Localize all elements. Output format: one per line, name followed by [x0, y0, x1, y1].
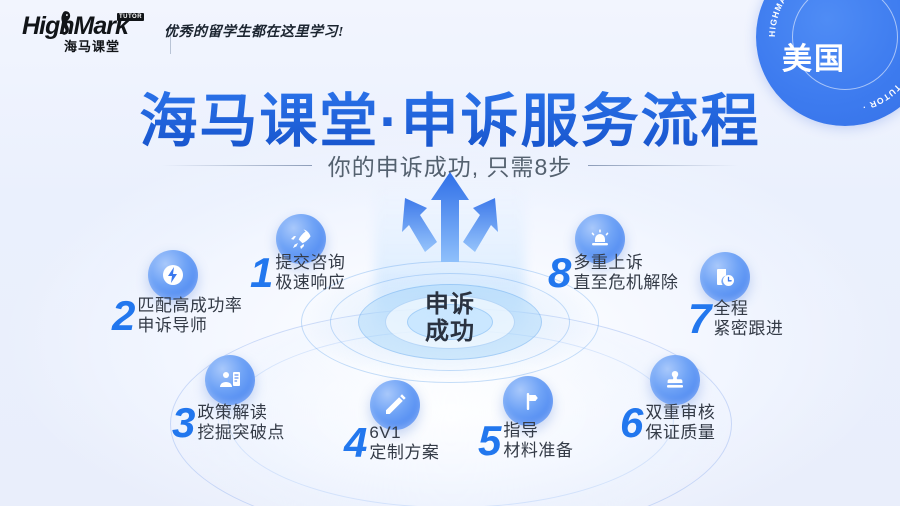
- step-8-lines: 多重上诉 直至危机解除: [573, 253, 678, 293]
- subtitle-rule-right: [588, 165, 738, 166]
- step-6-line1: 双重审核: [645, 403, 715, 423]
- signpost-icon[interactable]: [503, 376, 553, 426]
- poster-root: HighMark TUTOR 海马课堂 优秀的留学生都在这里学习! HIGHMA…: [0, 0, 900, 506]
- step-4-lines: 6V1 定制方案: [369, 423, 439, 463]
- step-6-lines: 双重审核 保证质量: [645, 403, 715, 443]
- step-3-line2: 挖掘突破点: [197, 423, 285, 443]
- step-6-line2: 保证质量: [645, 423, 715, 443]
- step-7-line2: 紧密跟进: [713, 319, 783, 339]
- center-label-line2: 成功: [425, 319, 475, 346]
- brand-tagline: 优秀的留学生都在这里学习!: [164, 21, 344, 41]
- step-5-number: 5: [478, 420, 500, 462]
- step-4-text: 4 6V1 定制方案: [344, 422, 439, 464]
- step-2-text: 2 匹配高成功率 申诉导师: [112, 295, 242, 337]
- step-1-line1: 提交咨询: [275, 253, 345, 273]
- brand-logo[interactable]: HighMark TUTOR 海马课堂: [22, 10, 142, 54]
- step-2-line2: 申诉导师: [137, 316, 242, 336]
- logo-chinese-name: 海马课堂: [64, 36, 120, 55]
- step-2-line1: 匹配高成功率: [137, 296, 242, 316]
- step-4-line2: 定制方案: [369, 443, 439, 463]
- step-1-lines: 提交咨询 极速响应: [275, 253, 345, 293]
- step-7-text: 7 全程 紧密跟进: [688, 298, 783, 340]
- step-3-text: 3 政策解读 挖掘突破点: [172, 402, 285, 444]
- step-8-line1: 多重上诉: [573, 253, 678, 273]
- center-label-line1: 申诉: [425, 292, 475, 319]
- step-4-line1: 6V1: [369, 423, 439, 443]
- lightning-icon[interactable]: [148, 250, 198, 300]
- step-6-number: 6: [620, 402, 642, 444]
- step-5-line2: 材料准备: [503, 441, 573, 461]
- step-7-number: 7: [688, 298, 710, 340]
- logo-tutor-tag: TUTOR: [117, 13, 144, 21]
- step-2-number: 2: [112, 295, 134, 337]
- step-1-line2: 极速响应: [275, 273, 345, 293]
- person-document-icon[interactable]: [205, 355, 255, 405]
- step-6-text: 6 双重审核 保证质量: [620, 402, 715, 444]
- step-8-line2: 直至危机解除: [573, 273, 678, 293]
- logo-mark: HighMark TUTOR 海马课堂: [22, 10, 142, 54]
- step-7-lines: 全程 紧密跟进: [713, 299, 783, 339]
- step-2-lines: 匹配高成功率 申诉导师: [137, 296, 242, 336]
- step-8-number: 8: [548, 252, 570, 294]
- stamp-icon[interactable]: [650, 355, 700, 405]
- step-1-number: 1: [250, 252, 272, 294]
- process-stage: 申诉 成功 1 提交咨询 极速响应 2: [0, 190, 900, 506]
- upward-arrows-icon: [375, 170, 525, 300]
- page-title: 海马课堂·申诉服务流程: [0, 74, 900, 158]
- subtitle-rule-left: [162, 165, 312, 166]
- step-8-text: 8 多重上诉 直至危机解除: [548, 252, 678, 294]
- step-4-number: 4: [344, 422, 366, 464]
- step-3-number: 3: [172, 402, 194, 444]
- step-1-text: 1 提交咨询 极速响应: [250, 252, 345, 294]
- step-5-line1: 指导: [503, 421, 573, 441]
- step-3-lines: 政策解读 挖掘突破点: [197, 403, 285, 443]
- step-3-line1: 政策解读: [197, 403, 285, 423]
- center-success-label: 申诉 成功: [425, 292, 475, 346]
- step-7-line1: 全程: [713, 299, 783, 319]
- step-5-text: 5 指导 材料准备: [478, 420, 573, 462]
- step-5-lines: 指导 材料准备: [503, 421, 573, 461]
- badge-country-label: 美国: [782, 34, 846, 78]
